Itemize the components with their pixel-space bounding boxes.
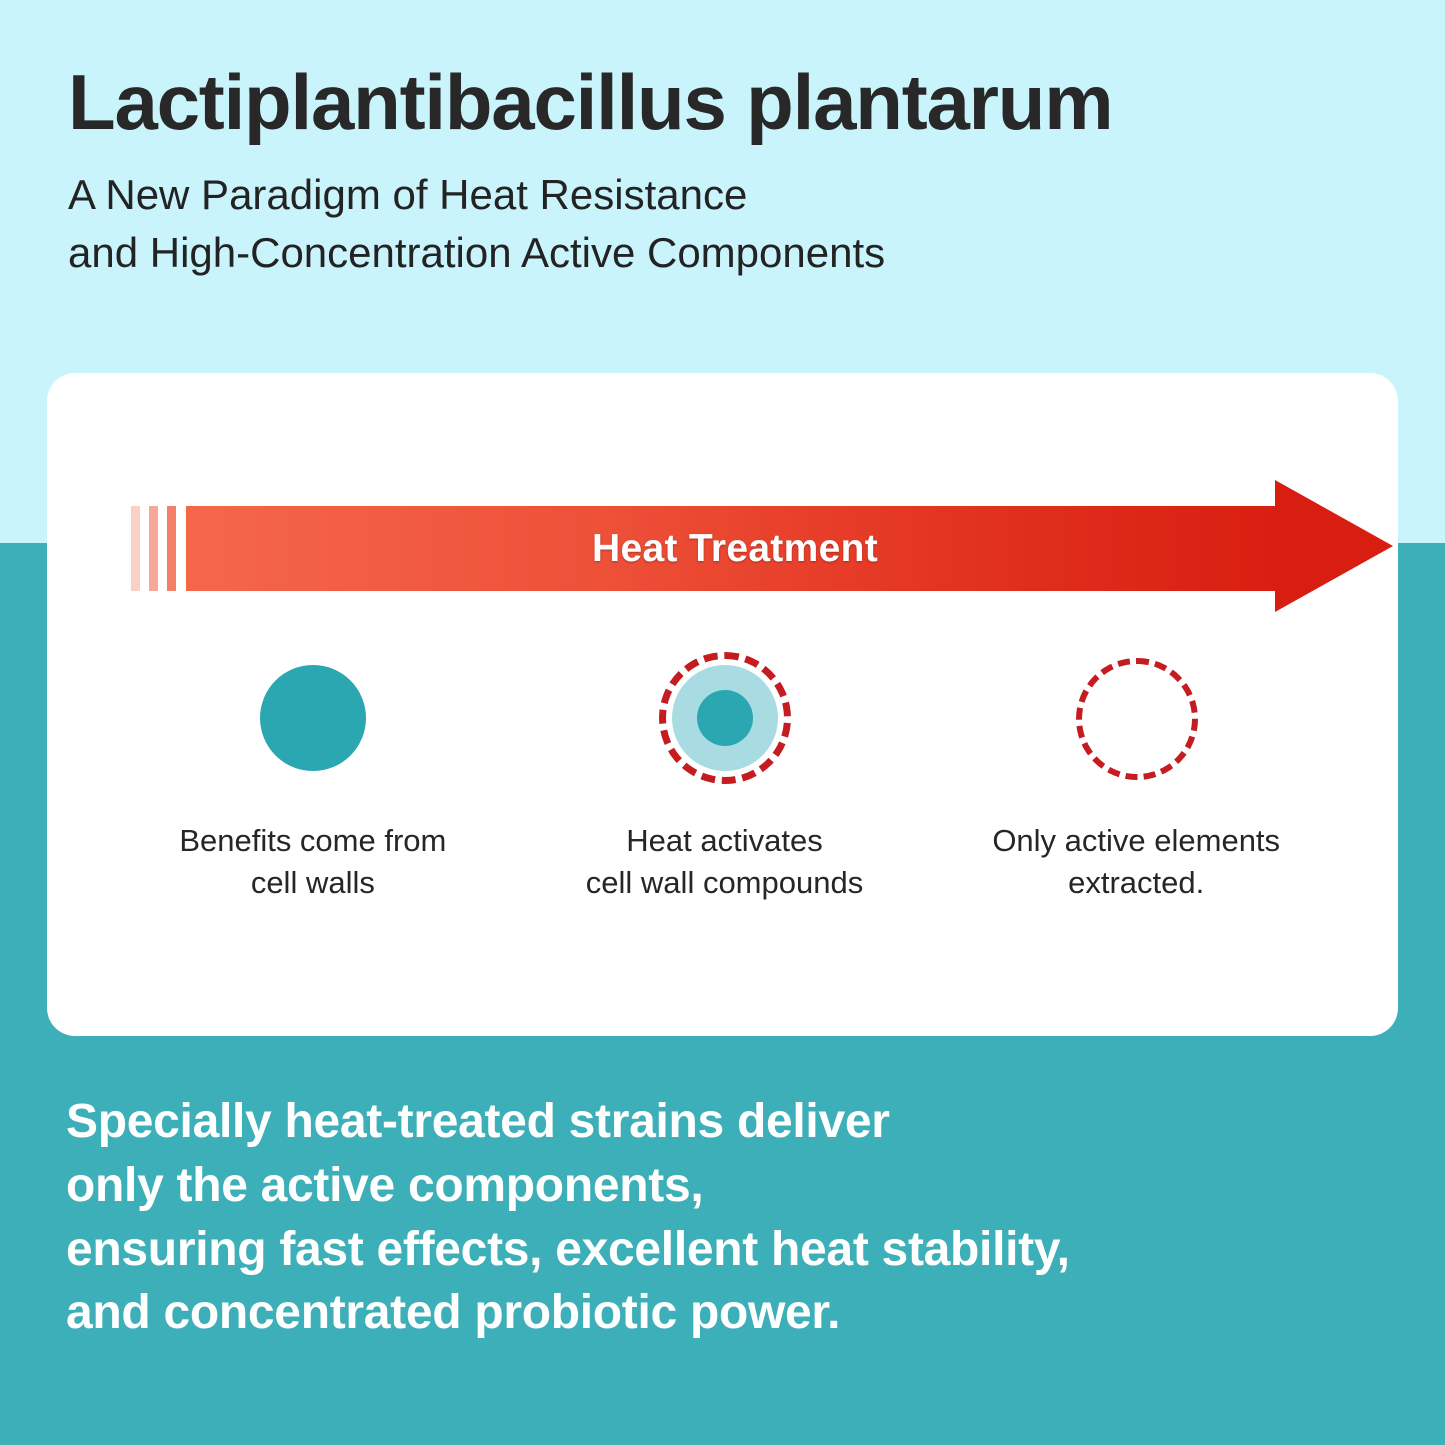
solid-cell-icon bbox=[233, 638, 393, 798]
page-subtitle: A New Paradigm of Heat Resistance and Hi… bbox=[68, 166, 1408, 282]
process-card: Heat Treatment Benefits come from cell w… bbox=[47, 373, 1398, 1036]
stage-caption: Heat activates cell wall compounds bbox=[586, 820, 863, 904]
stage-item-1: Benefits come from cell walls bbox=[107, 638, 519, 928]
activated-cell-icon bbox=[645, 638, 805, 798]
solid-disc bbox=[260, 665, 366, 771]
stage-caption: Only active elements extracted. bbox=[992, 820, 1280, 904]
summary-statement: Specially heat-treated strains deliver o… bbox=[66, 1090, 1386, 1345]
header: Lactiplantibacillus plantarum A New Para… bbox=[68, 62, 1408, 282]
dashed-ring-icon bbox=[1076, 658, 1198, 780]
stage-list: Benefits come from cell walls Heat activ… bbox=[107, 638, 1342, 928]
subtitle-line-2: and High-Concentration Active Components bbox=[68, 224, 1408, 282]
statement-line-3: ensuring fast effects, excellent heat st… bbox=[66, 1218, 1386, 1282]
page-title: Lactiplantibacillus plantarum bbox=[68, 62, 1408, 144]
motion-tick-3 bbox=[167, 506, 176, 591]
motion-tick-1 bbox=[131, 506, 140, 591]
stage-item-2: Heat activates cell wall compounds bbox=[519, 638, 931, 928]
motion-tick-2 bbox=[149, 506, 158, 591]
statement-line-4: and concentrated probiotic power. bbox=[66, 1281, 1386, 1345]
stage-caption: Benefits come from cell walls bbox=[179, 820, 446, 904]
infographic-page: Lactiplantibacillus plantarum A New Para… bbox=[0, 0, 1445, 1445]
subtitle-line-1: A New Paradigm of Heat Resistance bbox=[68, 166, 1408, 224]
heat-treatment-arrow: Heat Treatment bbox=[87, 491, 1393, 616]
arrow-right-icon bbox=[1275, 480, 1393, 612]
empty-dashed-cell-icon bbox=[1056, 638, 1216, 798]
statement-line-1: Specially heat-treated strains deliver bbox=[66, 1090, 1386, 1154]
statement-line-2: only the active components, bbox=[66, 1154, 1386, 1218]
arrow-label: Heat Treatment bbox=[186, 506, 1284, 591]
stage-item-3: Only active elements extracted. bbox=[930, 638, 1342, 928]
dashed-ring-icon bbox=[659, 652, 791, 784]
